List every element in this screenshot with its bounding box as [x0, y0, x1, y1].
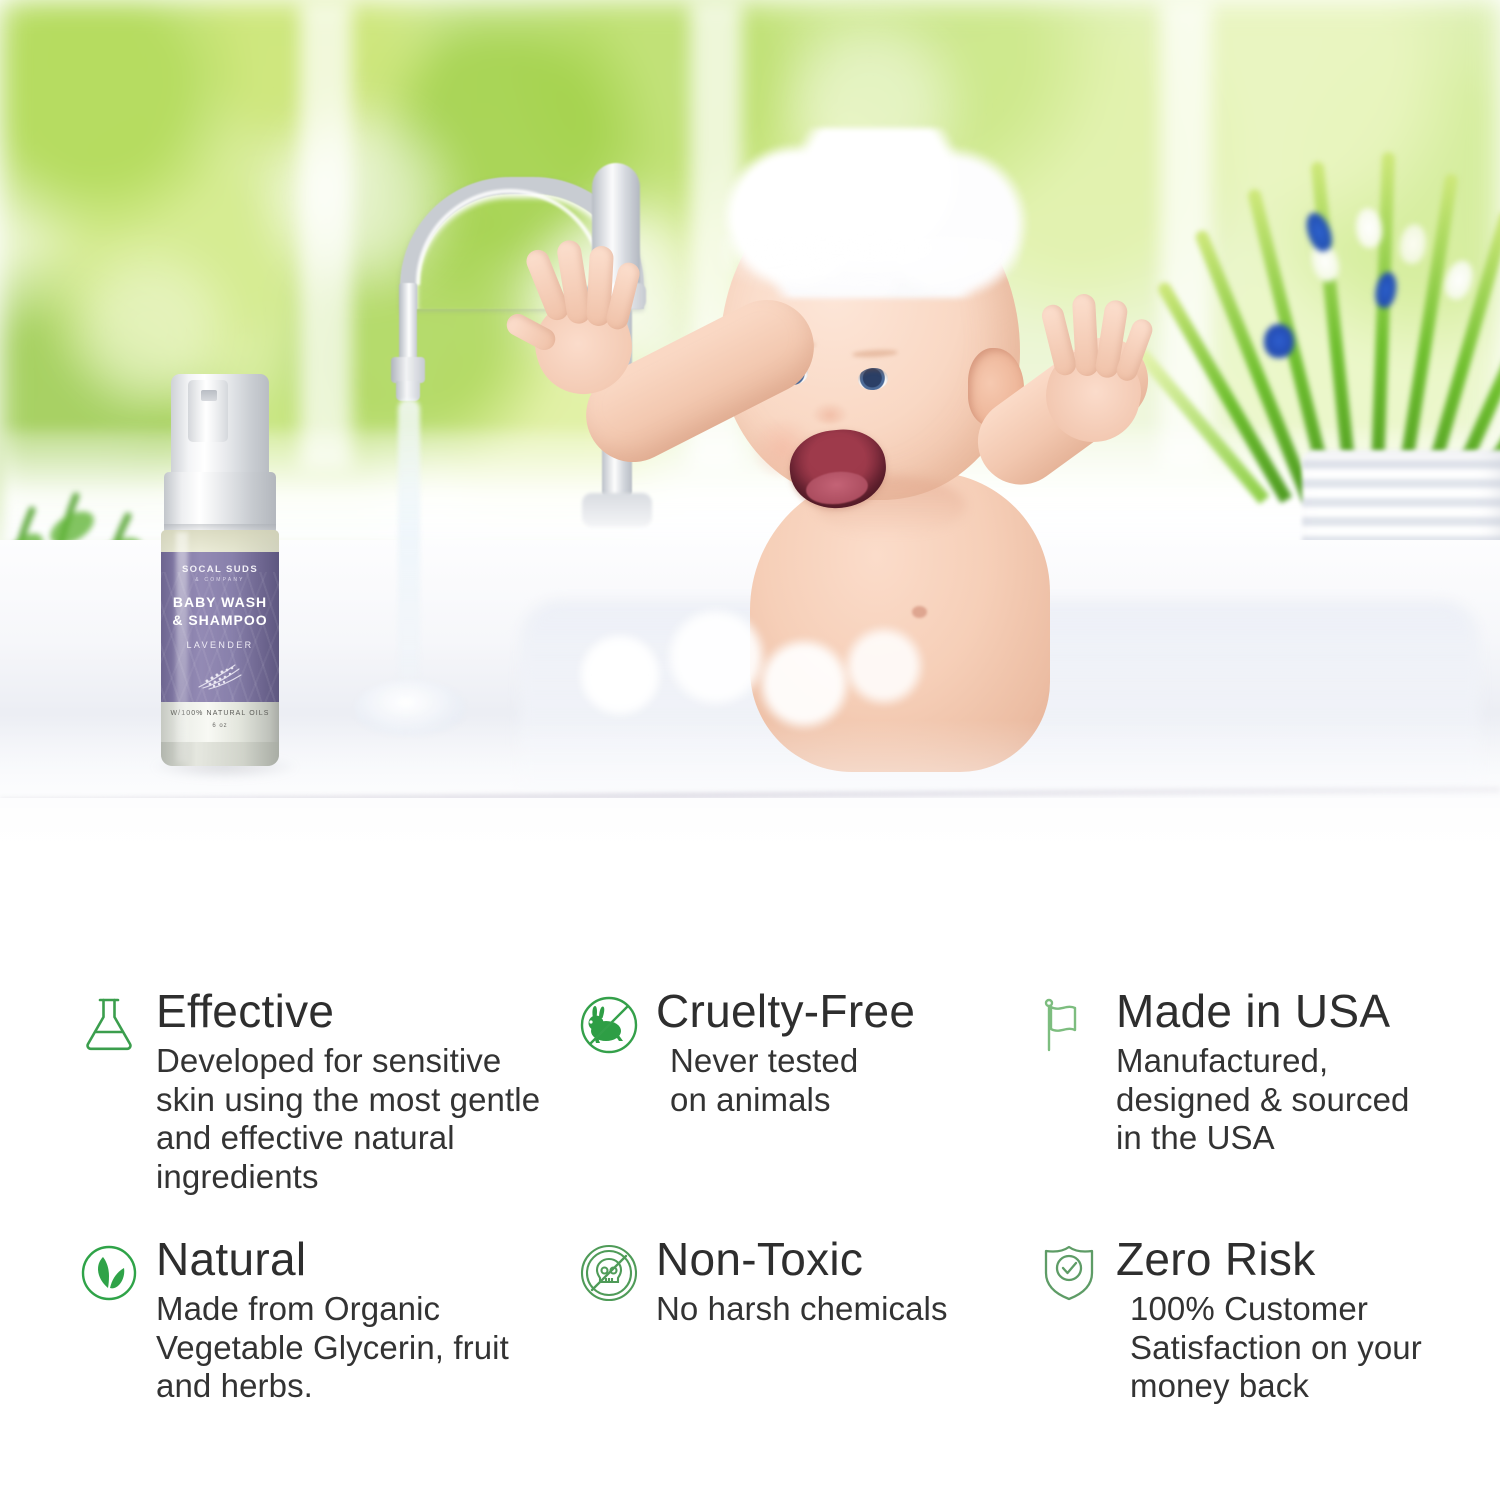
plant-leaves: [1250, 150, 1500, 500]
feature-body: No harsh chemicals: [656, 1290, 1038, 1329]
feature-body: 100% Customer Satisfaction on your money…: [1116, 1290, 1478, 1406]
feature-title: Made in USA: [1116, 988, 1478, 1035]
feature-title: Non-Toxic: [656, 1236, 1038, 1283]
features-panel: Effective Developed for sensitive skin u…: [0, 900, 1500, 1500]
product-marketing-image: SOCAL SUDS & COMPANY BABY WASH & SHAMPOO…: [0, 0, 1500, 1500]
feature-body: Manufactured, designed & sourced in the …: [1116, 1042, 1478, 1158]
baby-hand-right: [1032, 296, 1158, 446]
product-bottle: SOCAL SUDS & COMPANY BABY WASH & SHAMPOO…: [152, 374, 288, 766]
feature-title: Effective: [156, 988, 578, 1035]
feature-made-in-usa: Made in USA Manufactured, designed & sou…: [1038, 988, 1478, 1236]
window-mullion-left: [300, 0, 352, 470]
flask-icon: [78, 994, 140, 1056]
no-toxic-skull-icon: [578, 1242, 640, 1304]
feature-title: Zero Risk: [1116, 1236, 1478, 1283]
feature-title: Cruelty-Free: [656, 988, 1038, 1035]
baby-hand-left: [514, 242, 642, 392]
features-grid: Effective Developed for sensitive skin u…: [78, 988, 1478, 1484]
feature-natural: Natural Made from Organic Vegetable Glyc…: [78, 1236, 578, 1484]
feature-effective: Effective Developed for sensitive skin u…: [78, 988, 578, 1236]
leaf-circle-icon: [78, 1242, 140, 1304]
feature-body: Never tested on animals: [656, 1042, 1038, 1119]
blue-flower: [1264, 324, 1294, 358]
no-animal-testing-rabbit-icon: [578, 994, 640, 1056]
feature-body: Developed for sensitive skin using the m…: [156, 1042, 578, 1196]
shield-check-icon: [1038, 1242, 1100, 1304]
flag-icon: [1038, 994, 1100, 1056]
feature-zero-risk: Zero Risk 100% Customer Satisfaction on …: [1038, 1236, 1478, 1484]
feature-cruelty-free: Cruelty-Free Never tested on animals: [578, 988, 1038, 1236]
lavender-sprig-icon: [195, 660, 247, 690]
feature-title: Natural: [156, 1236, 578, 1283]
feature-non-toxic: Non-Toxic No harsh chemicals: [578, 1236, 1038, 1484]
lifestyle-photo-scene: SOCAL SUDS & COMPANY BABY WASH & SHAMPOO…: [0, 0, 1500, 900]
feature-body: Made from Organic Vegetable Glycerin, fr…: [156, 1290, 578, 1406]
